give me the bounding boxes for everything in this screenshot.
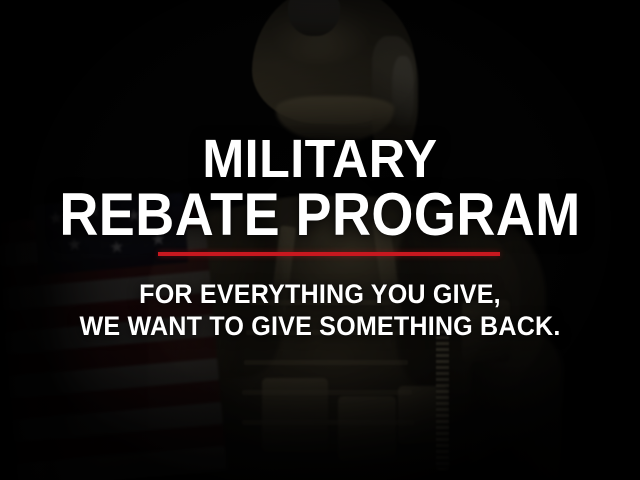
text-overlay: MILITARY REBATE PROGRAM FOR EVERYTHING Y… [0, 0, 640, 480]
subheading-line-2: WE WANT TO GIVE SOMETHING BACK. [22, 313, 617, 340]
military-rebate-banner: ★ ★ ★ ★ ★ ★ MILITARY REBATE PROGRAM FOR … [0, 0, 640, 480]
headline-line-2: REBATE PROGRAM [32, 185, 608, 245]
red-divider-rule [158, 252, 500, 256]
subheading-line-1: FOR EVERYTHING YOU GIVE, [22, 281, 617, 308]
headline-line-1: MILITARY [22, 132, 617, 186]
